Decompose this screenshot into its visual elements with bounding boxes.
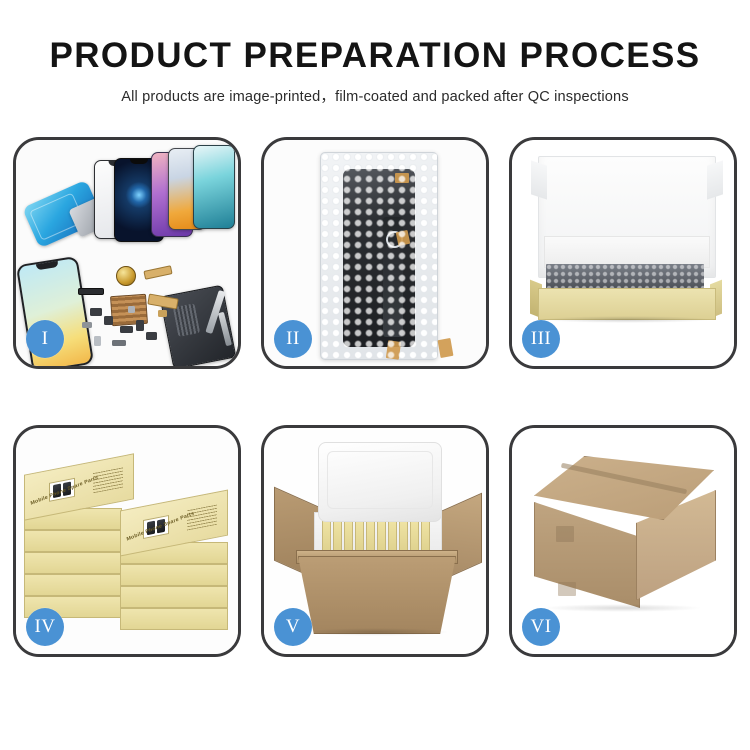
small-part-9: [158, 310, 167, 317]
small-part-4: [136, 320, 144, 331]
foam-lid: [318, 442, 442, 522]
small-part-3: [120, 326, 133, 333]
process-step-panel-2: II: [261, 137, 489, 369]
carton-face-left: [534, 502, 640, 608]
small-part-10: [128, 306, 135, 313]
carton-tape-lower: [558, 582, 576, 596]
step-badge-4: IV: [26, 608, 64, 646]
box-shadow: [542, 316, 712, 323]
flex-cable-3: [78, 288, 104, 295]
teal-phone-display: [193, 145, 235, 229]
stacked-box-r5: [120, 608, 228, 630]
step-badge-5: V: [274, 608, 312, 646]
page-title: PRODUCT PREPARATION PROCESS: [0, 38, 750, 75]
tape-strip-4: [438, 338, 454, 358]
carton-shadow: [302, 628, 450, 636]
stacked-box-r4: [120, 586, 228, 608]
packed-inner-boxes: [322, 520, 432, 554]
page-header: PRODUCT PREPARATION PROCESS All products…: [0, 0, 750, 106]
small-part-2: [104, 316, 113, 325]
step-badge-2: II: [274, 320, 312, 358]
step-badge-6: VI: [522, 608, 560, 646]
process-step-grid: I II III: [13, 137, 737, 657]
stacked-box-l3: [24, 552, 122, 574]
tape-strip-3: [386, 340, 401, 360]
small-part-6: [146, 332, 157, 340]
process-step-panel-5: V: [261, 425, 489, 657]
process-step-panel-3: III: [509, 137, 737, 369]
tape-strip-1: [395, 173, 409, 183]
small-part-8: [94, 336, 101, 346]
flex-cable-1: [143, 265, 172, 280]
stacked-box-r3: [120, 564, 228, 586]
process-step-panel-6: VI: [509, 425, 737, 657]
tape-strip-2: [396, 230, 411, 246]
bubble-wrap-bag: [320, 152, 438, 360]
step-badge-3: III: [522, 320, 560, 358]
process-step-panel-4: Mobile Phone Spare Parts Mobile Phone Sp…: [13, 425, 241, 657]
carton-body: [298, 556, 456, 634]
sealed-carton-shadow: [542, 604, 702, 612]
stacked-box-l2: [24, 530, 122, 552]
small-part-1: [90, 308, 102, 316]
small-part-5: [82, 322, 92, 328]
page-subtitle: All products are image-printed，film-coat…: [0, 85, 750, 106]
speaker-module: [116, 266, 136, 286]
stacked-box-l4: [24, 574, 122, 596]
step-badge-1: I: [26, 320, 64, 358]
bubble-wrapped-units: [546, 264, 704, 290]
wrapped-phone-screen: [343, 169, 415, 347]
small-part-7: [112, 340, 126, 346]
carton-tape-upper: [556, 526, 574, 542]
process-step-panel-1: I: [13, 137, 241, 369]
